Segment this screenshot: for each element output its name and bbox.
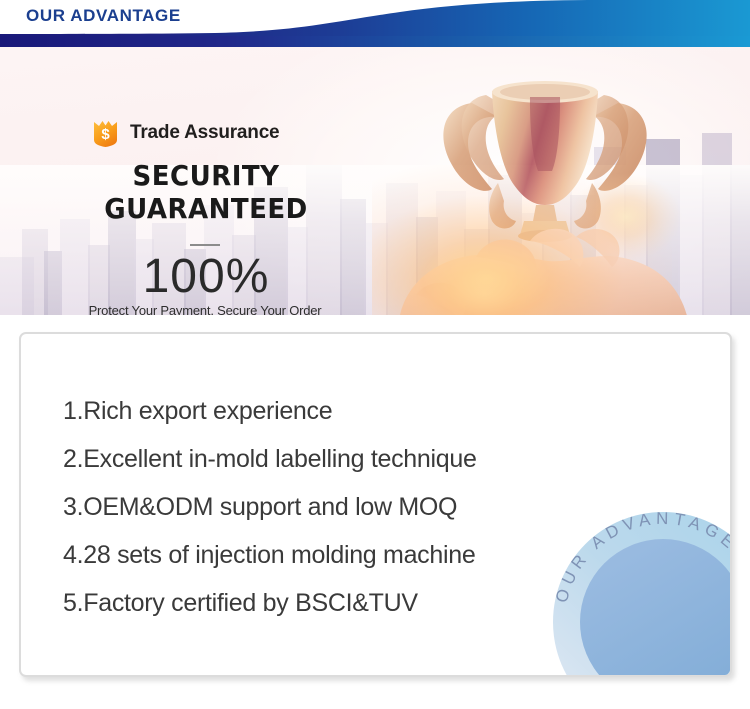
list-item: 2.Excellent in-mold labelling technique <box>63 435 477 483</box>
list-item: 1.Rich export experience <box>63 387 477 435</box>
banner-text-block: $ Trade Assurance SECURITY GUARANTEED 10… <box>0 47 430 315</box>
trade-assurance-banner: $ Trade Assurance SECURITY GUARANTEED 10… <box>0 47 750 315</box>
page-header: OUR ADVANTAGE <box>0 0 750 47</box>
page-title: OUR ADVANTAGE <box>26 6 181 26</box>
svg-text:$: $ <box>101 126 110 143</box>
list-item: 5.Factory certified by BSCI&TUV <box>63 579 477 627</box>
list-item: 3.OEM&ODM support and low MOQ <box>63 483 477 531</box>
our-advantage-watermark: OUR ADVANTAGE <box>538 497 732 677</box>
advantage-card-shell: OUR ADVANTAGE 1.Rich export experience 2… <box>11 325 739 689</box>
advantage-card: OUR ADVANTAGE 1.Rich export experience 2… <box>19 332 732 677</box>
list-item: 4.28 sets of injection molding machine <box>63 531 477 579</box>
banner-subtext: Protect Your Payment, Secure Your Order <box>40 303 370 315</box>
trade-assurance-label: Trade Assurance <box>130 122 279 144</box>
advantage-list: 1.Rich export experience 2.Excellent in-… <box>63 387 477 627</box>
trade-assurance-row: $ Trade Assurance <box>92 118 279 148</box>
percent-value: 100% <box>56 249 356 304</box>
trade-assurance-shield-icon: $ <box>92 118 119 148</box>
security-headline: SECURITY GUARANTEED <box>67 159 346 225</box>
headline-divider <box>190 244 220 246</box>
